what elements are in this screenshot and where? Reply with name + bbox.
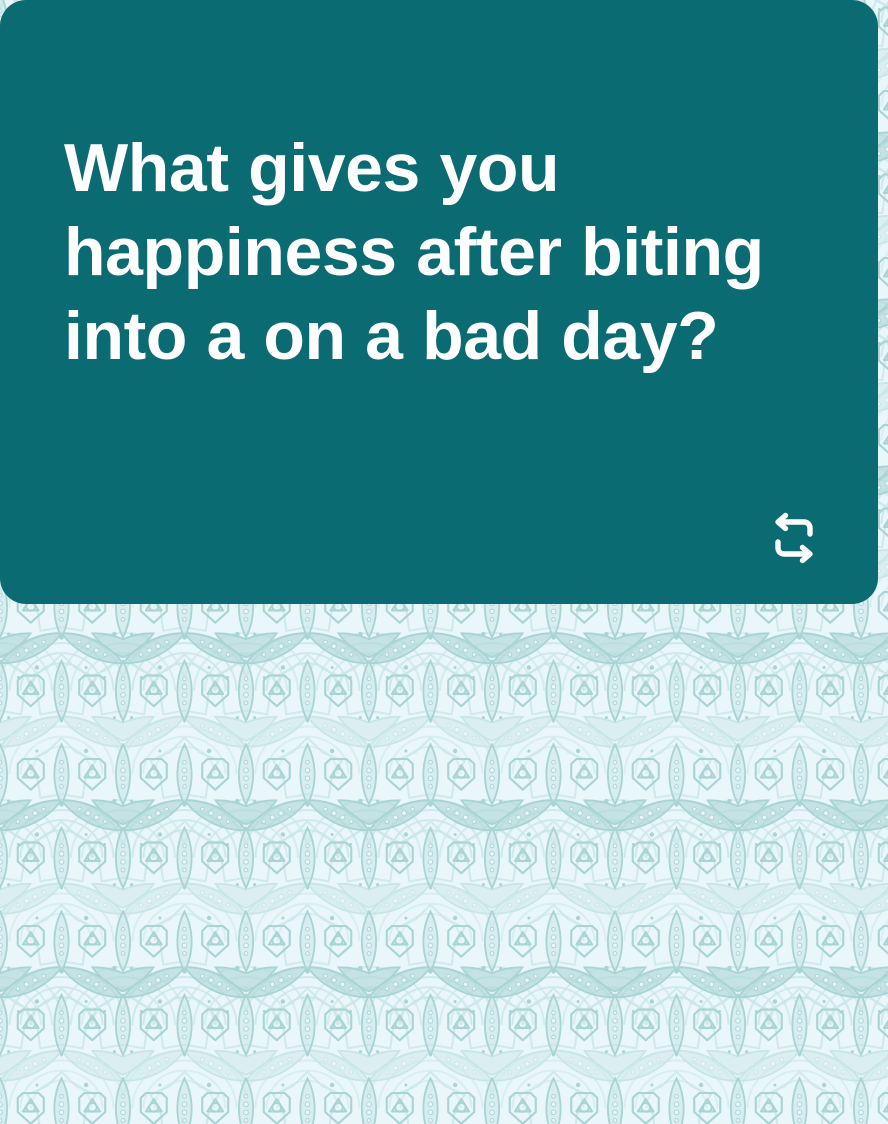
repeat-icon (767, 511, 821, 565)
shuffle-question-button[interactable] (764, 508, 824, 568)
app-root: What gives you happiness after biting in… (0, 0, 888, 1124)
question-text: What gives you happiness after biting in… (64, 126, 844, 378)
question-card: What gives you happiness after biting in… (0, 0, 878, 604)
